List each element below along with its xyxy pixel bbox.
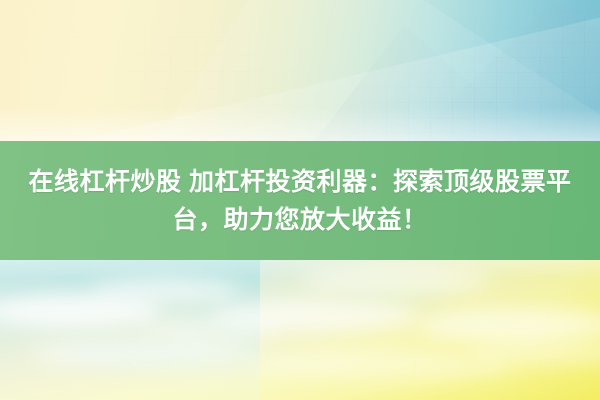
cloud-icon (30, 338, 260, 368)
cloud-icon (140, 318, 280, 340)
promo-banner: 在线杠杆炒股 加杠杆投资利器：探索顶级股票平 台，助力您放大收益！ (0, 0, 600, 400)
top-scene-fade (0, 107, 600, 141)
headline-band: 在线杠杆炒股 加杠杆投资利器：探索顶级股票平 台，助力您放大收益！ (0, 141, 600, 260)
top-gradient-scene (0, 0, 600, 141)
sky-top-highlight (0, 260, 600, 278)
headline-line-2: 台，助力您放大收益！ (172, 201, 427, 239)
sky-scene (0, 260, 600, 400)
cloud-icon (250, 352, 510, 378)
headline-line-1: 在线杠杆炒股 加杠杆投资利器：探索顶级股票平 (29, 163, 572, 201)
